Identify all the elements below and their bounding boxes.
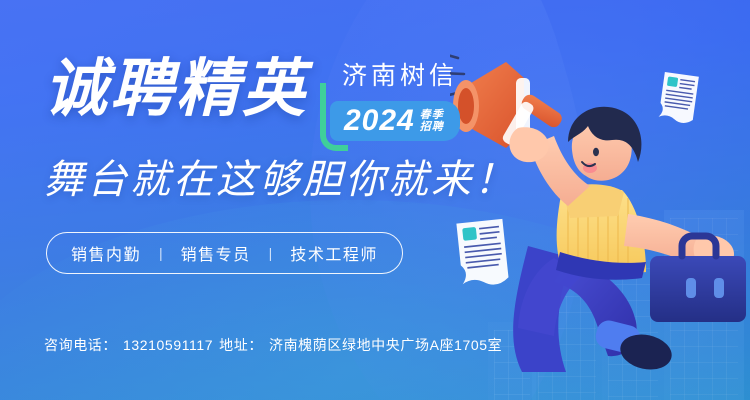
mouth (582, 162, 595, 166)
page-title: 诚聘精英 (44, 58, 308, 121)
subheadline: 舞台就在这够胆你就来！ (44, 158, 517, 202)
building-silhouette (602, 260, 664, 400)
waistband (556, 252, 646, 280)
address-value: 济南槐荫区绿地中央广场A座1705室 (269, 337, 502, 353)
year-subtitle-line1: 春季 (420, 109, 444, 121)
positions-separator: | (159, 245, 163, 261)
extended-arm (624, 214, 708, 268)
position-item-technical-engineer: 技术工程师 (290, 241, 378, 265)
shoe (617, 330, 675, 374)
character-head (568, 107, 641, 181)
year-badge: 2024 春季 招聘 (330, 101, 460, 141)
recruitment-banner: 诚聘精英 济南树信 2024 春季 招聘 舞台就在这够胆你就来！ 销售内勤 | … (0, 0, 750, 400)
shirt-stripes (568, 192, 628, 278)
phone-value: 13210591117 (123, 337, 213, 353)
headline-row: 诚聘精英 济南树信 2024 春季 招聘 (44, 58, 460, 141)
building-silhouette (664, 210, 744, 400)
address-label: 地址： (219, 337, 263, 353)
hand-holding-briefcase (694, 235, 734, 270)
year-number: 2024 (344, 106, 415, 136)
background-glow-bottom (0, 200, 750, 400)
back-leg (513, 246, 572, 372)
year-subtitle-line2: 招聘 (420, 121, 444, 133)
building-silhouette (488, 322, 536, 400)
resume-document (456, 219, 509, 288)
position-item-sales-specialist: 销售专员 (181, 241, 251, 265)
cheek (583, 163, 597, 173)
orange-megaphone (453, 62, 564, 148)
raised-arm (530, 136, 590, 206)
position-item-sales-support: 销售内勤 (71, 241, 141, 265)
positions-pill: 销售内勤 | 销售专员 | 技术工程师 (46, 232, 403, 274)
positions-separator: | (269, 245, 273, 261)
hand-holding-megaphone (509, 127, 548, 162)
building-silhouette (532, 288, 602, 400)
eye (593, 148, 599, 156)
brand-block: 济南树信 2024 春季 招聘 (330, 64, 460, 141)
front-leg (554, 258, 675, 374)
city-skyline-silhouette (450, 100, 750, 400)
character-body (557, 184, 646, 282)
brand-name: 济南树信 (330, 64, 460, 89)
navy-briefcase (650, 236, 746, 322)
phone-label: 咨询电话： (44, 337, 117, 353)
contact-line: 咨询电话：13210591117地址：济南槐荫区绿地中央广场A座1705室 (44, 335, 508, 355)
hair (568, 107, 641, 162)
resume-document (658, 72, 699, 124)
year-subtitle: 春季 招聘 (420, 109, 444, 134)
